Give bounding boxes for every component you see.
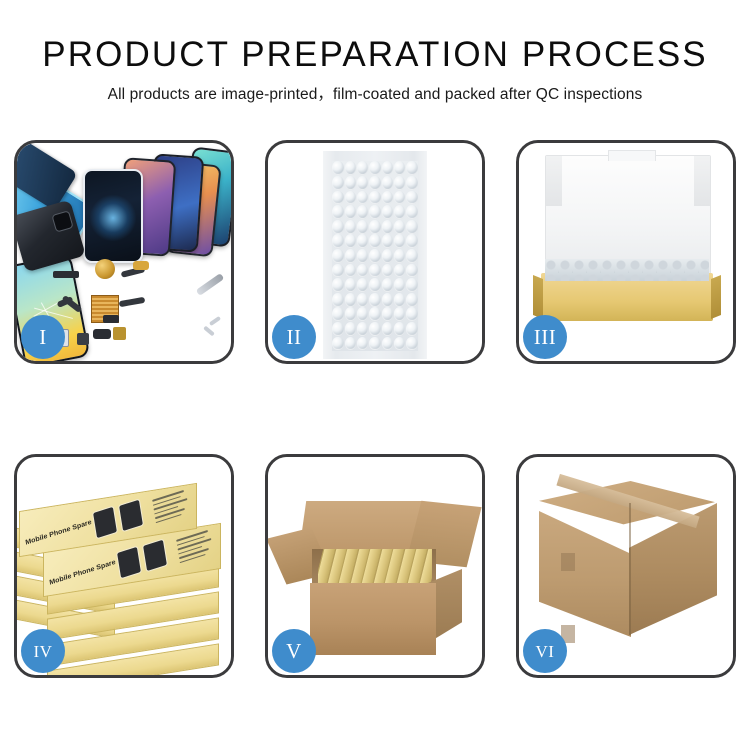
bubble (369, 249, 381, 263)
carton-tab (561, 553, 575, 571)
bubble (382, 205, 394, 219)
bubble (357, 293, 369, 307)
bubble (332, 278, 344, 292)
bubble (394, 249, 406, 263)
bubble (332, 307, 344, 321)
small-part-icon (113, 327, 126, 340)
small-part-icon (103, 315, 119, 323)
bubble (406, 264, 418, 278)
small-part-icon (53, 271, 79, 278)
bubble (332, 220, 344, 234)
bubble-wrap-sleeve-icon (323, 151, 427, 359)
bubble (394, 278, 406, 292)
bubble (406, 191, 418, 205)
bubble (406, 234, 418, 248)
bubble (406, 205, 418, 219)
bubble (357, 249, 369, 263)
bubble (345, 307, 357, 321)
bubble (345, 161, 357, 175)
step-badge-6: VI (523, 629, 567, 673)
bubble (345, 191, 357, 205)
flex-cable-icon (119, 297, 146, 307)
carton-right-face (629, 503, 717, 635)
bubble (406, 176, 418, 190)
bubble (357, 322, 369, 336)
speaker-module-icon (95, 259, 115, 279)
bubble (332, 191, 344, 205)
bubble-grid (332, 161, 418, 351)
carton-front-face (310, 583, 436, 655)
bubble (406, 220, 418, 234)
tray-side-left (533, 275, 543, 319)
bubble (357, 264, 369, 278)
bubble (394, 322, 406, 336)
repair-tool-icon (196, 273, 225, 296)
lid-fold-right (694, 156, 710, 206)
bubble (382, 191, 394, 205)
page-subtitle: All products are image-printed，film-coat… (0, 85, 750, 105)
step-badge-1: I (21, 315, 65, 359)
step-3-illustration: III (519, 143, 733, 361)
bubble (382, 337, 394, 351)
bubble (382, 161, 394, 175)
screw-icon (209, 316, 221, 326)
bubble (357, 234, 369, 248)
bubble (357, 191, 369, 205)
screen-glow (90, 195, 136, 241)
lid-tab (608, 150, 656, 161)
bubble (345, 322, 357, 336)
bubble (332, 176, 344, 190)
bubble (357, 307, 369, 321)
bubble (406, 249, 418, 263)
bubble (394, 161, 406, 175)
bubble (357, 161, 369, 175)
bubble (406, 307, 418, 321)
bubble (382, 278, 394, 292)
process-step-panel-3: III (516, 140, 736, 364)
phone-screen-black-icon (83, 169, 143, 263)
bubble (345, 176, 357, 190)
bubble (382, 264, 394, 278)
bubble (369, 293, 381, 307)
bubble (369, 264, 381, 278)
small-part-icon (93, 329, 111, 339)
bubble (332, 264, 344, 278)
bubble (345, 293, 357, 307)
step-badge-2: II (272, 315, 316, 359)
camera-module-icon (51, 210, 73, 232)
flex-cable-icon (133, 261, 149, 270)
small-part-icon (77, 333, 89, 345)
bubble (369, 220, 381, 234)
bubble (369, 176, 381, 190)
bubble (332, 249, 344, 263)
bubble (394, 220, 406, 234)
bubble (345, 264, 357, 278)
step-2-illustration: II (268, 143, 482, 361)
box-tray-icon (541, 273, 713, 321)
bubble (394, 264, 406, 278)
screw-icon (203, 326, 215, 337)
carton-left-face (539, 511, 631, 637)
bubble (357, 176, 369, 190)
bubble (394, 337, 406, 351)
bubble (394, 191, 406, 205)
step-badge-4: IV (21, 629, 65, 673)
bubble (394, 205, 406, 219)
lid-fold-left (546, 156, 562, 206)
bubble (369, 234, 381, 248)
bubble (332, 161, 344, 175)
step-1-illustration: I (17, 143, 231, 361)
process-step-panel-4: Mobile Phone Spare Parts (14, 454, 234, 678)
process-step-panel-5: V (265, 454, 485, 678)
bubble (394, 176, 406, 190)
bubble (345, 337, 357, 351)
bubble (406, 322, 418, 336)
bubble (369, 307, 381, 321)
bubble (369, 191, 381, 205)
bubble (382, 293, 394, 307)
bubble (394, 234, 406, 248)
bubble (369, 278, 381, 292)
bubble (345, 249, 357, 263)
bubble (369, 337, 381, 351)
bubble (369, 322, 381, 336)
bubble (382, 176, 394, 190)
step-badge-5: V (272, 629, 316, 673)
bubble (332, 234, 344, 248)
page-title: PRODUCT PREPARATION PROCESS (0, 34, 750, 76)
bubble (357, 337, 369, 351)
bubble (406, 293, 418, 307)
bubble (332, 293, 344, 307)
bubble (369, 161, 381, 175)
bubble (406, 337, 418, 351)
bubble (345, 205, 357, 219)
bubble (332, 337, 344, 351)
process-step-panel-6: VI (516, 454, 736, 678)
process-step-panel-1: I (14, 140, 234, 364)
bubble (406, 278, 418, 292)
bubble (332, 322, 344, 336)
step-5-illustration: V (268, 457, 482, 675)
bubble (382, 322, 394, 336)
process-steps-grid: I II (14, 140, 736, 678)
step-6-illustration: VI (519, 457, 733, 675)
bubble (394, 293, 406, 307)
process-step-panel-2: II (265, 140, 485, 364)
carton-edge-seam (629, 503, 631, 635)
bubble-wrapped-contents-icon (545, 259, 709, 281)
bubble (357, 278, 369, 292)
bubble (357, 205, 369, 219)
product-preparation-infographic: PRODUCT PREPARATION PROCESS All products… (0, 0, 750, 750)
bubble (345, 220, 357, 234)
bubble (382, 307, 394, 321)
bubble (332, 205, 344, 219)
bubble (357, 220, 369, 234)
bubble (382, 234, 394, 248)
bubble (369, 205, 381, 219)
step-badge-3: III (523, 315, 567, 359)
step-4-illustration: Mobile Phone Spare Parts (17, 457, 231, 675)
bubble (382, 249, 394, 263)
tray-side-right (711, 275, 721, 319)
bubble (394, 307, 406, 321)
header: PRODUCT PREPARATION PROCESS All products… (0, 34, 750, 105)
bubble (345, 234, 357, 248)
bubble (382, 220, 394, 234)
bubble (406, 161, 418, 175)
bubble (345, 278, 357, 292)
